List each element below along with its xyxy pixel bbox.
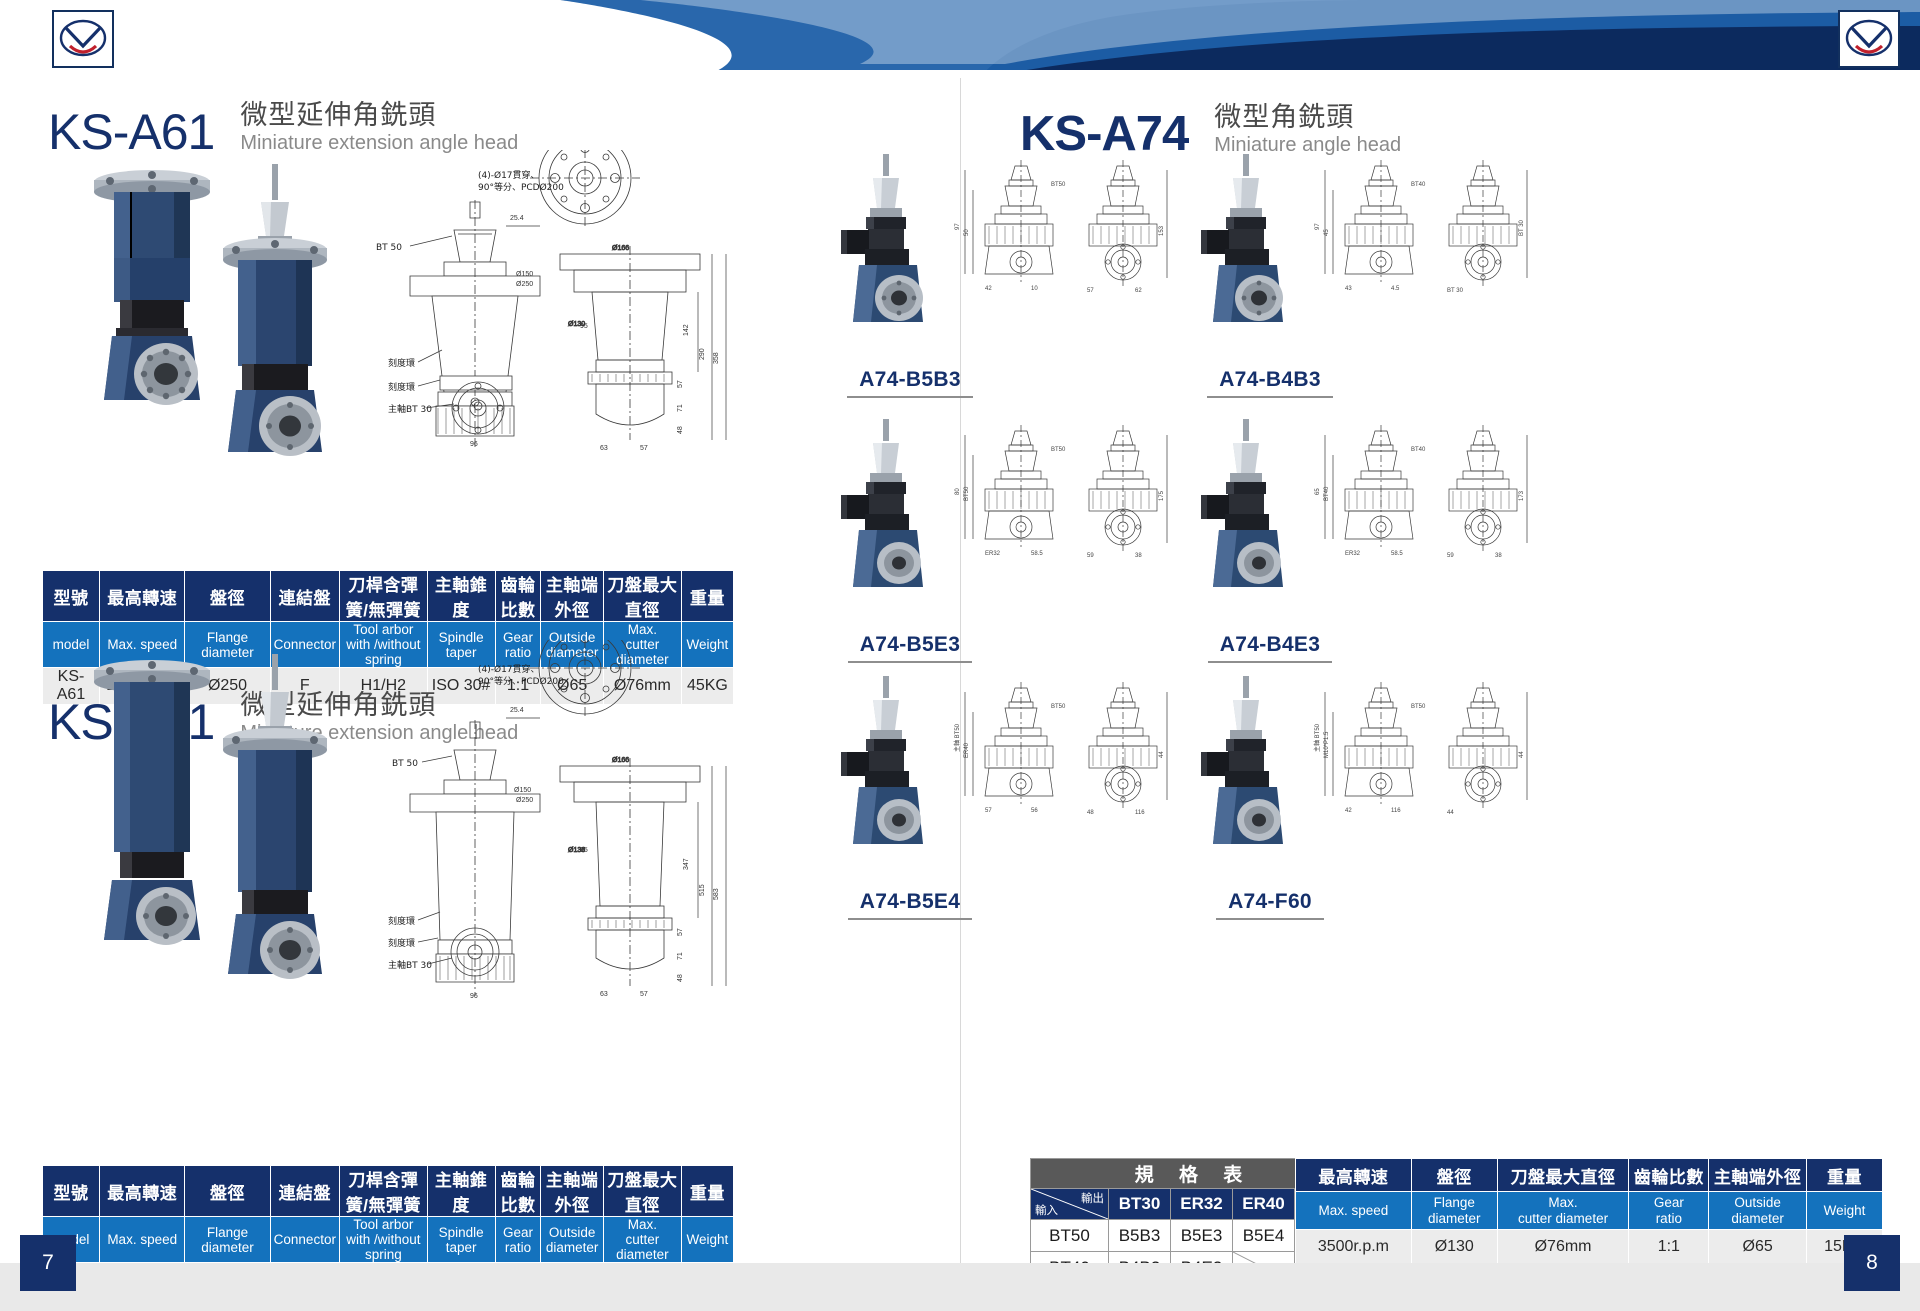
dim-note-a: 97: [955, 223, 961, 230]
variant-label-text: A74-B4B3: [1207, 368, 1333, 398]
svg-text:347: 347: [683, 858, 690, 870]
dim-note-taper: BT50: [1051, 182, 1066, 188]
variant-photo: [1201, 419, 1283, 587]
dim-note-d: 56: [1031, 808, 1038, 814]
spec-data-row: 3500r.p.mØ130Ø76mm1:1Ø6515KG: [1296, 1230, 1883, 1264]
variant-illustration-a74-b4b3: 9745434.5BT 30BT 30BT40: [1185, 150, 1535, 380]
variant-drawing-side: [1449, 160, 1527, 286]
dim-note-c: 42: [1345, 808, 1352, 814]
brand-logo-left: [52, 10, 114, 68]
spec-col-header-cn: 連結盤: [270, 571, 340, 622]
spec-col-header-en: Max.cutter diameter: [603, 1217, 681, 1263]
variant-label-a74-b5e4: A74-B5E4: [825, 890, 995, 924]
matrix-cell: B5E3: [1171, 1220, 1233, 1252]
drawing-note-bolt-1: (4)-Ø17貫穿、: [478, 169, 540, 181]
photo-a71-angled: [223, 654, 327, 979]
spec-col-header-en: Outsidediameter: [541, 1217, 603, 1263]
dim-note-f: 44: [1447, 810, 1454, 816]
dim-note-f: BT 30: [1447, 288, 1464, 294]
spec-header-row-cn: 最高轉速盤徑刀盤最大直徑齒輪比數主軸端外徑重量: [1296, 1159, 1883, 1192]
drawing-side-section-a71: [410, 720, 540, 996]
dim-note-g: 62: [1135, 288, 1142, 294]
spec-col-header-cn: 主軸端外徑: [541, 571, 603, 622]
spec-col-header-cn: 刀盤最大直徑: [1497, 1159, 1629, 1192]
spec-col-header-cn: 齒輪比數: [1629, 1159, 1709, 1192]
dim-note-b: M10*P1.5: [1324, 731, 1330, 758]
variant-illustration-a74-b5e4: 主軸 BT50ER4057564448116BT50: [825, 672, 1175, 902]
drawing-note-scale-ring-a71: 刻度環: [388, 915, 415, 927]
variant-photo: [1201, 154, 1283, 322]
spec-col-header-cn: 型號: [43, 571, 100, 622]
spec-col-header-cn: 齒輪比數: [495, 571, 541, 622]
spec-col-header-cn: 刀桿含彈簧/無彈簧: [340, 571, 428, 622]
svg-text:Ø166: Ø166: [612, 245, 629, 252]
dim-note-f: 59: [1087, 553, 1094, 559]
variant-drawing-front: [1325, 160, 1413, 282]
variant-photo: [841, 419, 923, 587]
spec-col-header-cn: 重量: [681, 571, 733, 622]
spec-col-header-en: Spindle taper: [427, 1217, 495, 1263]
variant-illustration-a74-b5b3: 975042101535762BT50: [825, 150, 1175, 380]
dim-note-a: 主軸 BT50: [953, 723, 961, 752]
svg-text:25.4: 25.4: [510, 707, 524, 714]
dim-note-g: 38: [1495, 553, 1502, 559]
svg-text:96: 96: [470, 993, 478, 1000]
variant-drawing-side: [1089, 160, 1167, 286]
drawing-note-spindle-bt30-a71: 主軸BT 30: [388, 959, 432, 971]
product-name-block: 微型延伸角銑頭 Miniature extension angle head: [240, 100, 518, 157]
variant-drawing-side: [1089, 682, 1167, 808]
variant-drawing-front: [1325, 682, 1413, 804]
svg-text:25.4: 25.4: [510, 215, 524, 222]
spec-header-row-cn: 型號最高轉速盤徑連結盤刀桿含彈簧/無彈簧主軸錐度齒輪比數主軸端外徑刀盤最大直徑重…: [43, 571, 734, 622]
variant-label-text: A74-B5E3: [848, 633, 972, 663]
svg-text:Ø250: Ø250: [516, 281, 533, 288]
product-name-cn: 微型延伸角銑頭: [240, 100, 518, 131]
spec-cell: Ø65: [1709, 1230, 1807, 1264]
dim-note-g: 116: [1135, 810, 1145, 816]
spec-col-header-en: Max.cutter diameter: [1497, 1192, 1629, 1230]
dim-note-d: 116: [1391, 808, 1401, 814]
dim-note-b: ER40: [964, 742, 970, 758]
svg-text:71: 71: [677, 404, 684, 412]
variant-drawing-front: [1325, 425, 1413, 547]
spec-col-header-cn: 重量: [681, 1166, 733, 1217]
dim-note-c: 43: [1345, 286, 1352, 292]
product-illustration-ks-a61: (4)-Ø17貫穿、 90°等分、PCDØ200 25.4: [40, 150, 740, 550]
spec-header-row-cn: 型號最高轉速盤徑連結盤刀桿含彈簧/無彈簧主軸錐度齒輪比數主軸端外徑刀盤最大直徑重…: [43, 1166, 734, 1217]
matrix-col-header: BT30: [1109, 1189, 1171, 1220]
variant-label-text: A74-B5E4: [848, 890, 972, 920]
svg-text:63: 63: [600, 445, 608, 452]
dim-note-b: BT40: [1324, 486, 1330, 501]
spec-header-row-en: Max. speedFlangediameterMax.cutter diame…: [1296, 1192, 1883, 1230]
drawing-note-bolt-2: 90°等分、PCDØ200: [478, 181, 564, 193]
svg-text:Ø250: Ø250: [516, 797, 533, 804]
spec-col-header-cn: 主軸錐度: [427, 571, 495, 622]
drawing-note-bt50-a71: BT 50: [392, 759, 418, 769]
svg-text:290: 290: [699, 348, 706, 360]
svg-text:Ø166: Ø166: [612, 757, 629, 764]
dim-note-d: 58.5: [1391, 551, 1403, 557]
variant-illustration-a74-b5e3: 80BT50ER3258.51755938BT50: [825, 415, 1175, 645]
spec-col-header-cn: 主軸錐度: [427, 1166, 495, 1217]
product-name-cn: 微型角銑頭: [1214, 102, 1401, 133]
variant-drawing-side: [1089, 425, 1167, 551]
drawing-note-bolt-1-a71: (4)-Ø17貫穿、: [478, 663, 540, 675]
dim-note-e: BT 30: [1519, 219, 1525, 236]
variant-drawing-front: [965, 160, 1053, 282]
spec-col-header-en: Connector: [270, 1217, 340, 1263]
footer-bar: [0, 1263, 1920, 1311]
spec-col-header-cn: 盤徑: [185, 571, 270, 622]
spec-col-header-cn: 盤徑: [185, 1166, 270, 1217]
dim-note-d: 4.5: [1391, 286, 1400, 292]
variant-illustration-a74-f60: 主軸 BT50M10*P1.5421164444BT50: [1185, 672, 1535, 902]
dim-note-taper: BT40: [1411, 182, 1426, 188]
section-heading-ks-a61: KS-A61 微型延伸角銑頭 Miniature extension angle…: [48, 100, 518, 157]
photo-a61-angled: [223, 164, 327, 456]
matrix-corner-input: 輸入: [1035, 1202, 1058, 1218]
spec-cell: Ø130: [1411, 1230, 1497, 1264]
variant-drawing-front: [965, 425, 1053, 547]
svg-text:95: 95: [580, 323, 588, 330]
spec-col-header-en: Flange diameter: [185, 1217, 270, 1263]
variant-label-text: A74-B4E3: [1208, 633, 1332, 663]
dim-note-c: ER32: [985, 551, 1001, 557]
spec-col-header-cn: 最高轉速: [99, 1166, 185, 1217]
variant-photo: [841, 154, 923, 322]
drawing-note-bolt-2-a71: 90°等分、PCDØ200: [478, 675, 564, 687]
spec-col-header-en: Max. speed: [99, 1217, 185, 1263]
spec-col-header-cn: 主軸端外徑: [1709, 1159, 1807, 1192]
brand-logo-right: [1838, 10, 1900, 68]
svg-text:358: 358: [713, 352, 720, 364]
variant-photo: [1201, 676, 1283, 844]
svg-text:57: 57: [640, 991, 648, 998]
spec-col-header-en: Tool arborwith /without spring: [340, 1217, 428, 1263]
spec-col-header-cn: 刀盤最大直徑: [603, 1166, 681, 1217]
spec-col-header-cn: 型號: [43, 1166, 100, 1217]
svg-text:71: 71: [677, 952, 684, 960]
spec-col-header-cn: 重量: [1807, 1159, 1883, 1192]
spec-col-header-cn: 主軸端外徑: [541, 1166, 603, 1217]
matrix-corner-output: 輸出: [1081, 1190, 1104, 1206]
drawing-note-bt50: BT 50: [376, 243, 402, 253]
svg-text:Ø150: Ø150: [516, 271, 533, 278]
svg-text:95: 95: [580, 847, 588, 854]
spec-col-header-en: Max. speed: [1296, 1192, 1412, 1230]
spec-col-header-en: Weight: [1807, 1192, 1883, 1230]
spec-col-header-cn: 最高轉速: [99, 571, 185, 622]
dim-note-b: 45: [1324, 229, 1330, 236]
dim-note-b: 50: [964, 229, 970, 236]
svg-text:63: 63: [600, 991, 608, 998]
spec-cell: 1:1: [1629, 1230, 1709, 1264]
matrix-row-header: BT50: [1031, 1220, 1109, 1252]
dim-note-a: 65: [1315, 488, 1321, 495]
svg-text:57: 57: [677, 928, 684, 936]
spec-col-header-cn: 刀桿含彈簧/無彈簧: [340, 1166, 428, 1217]
matrix-cell: B5E4: [1233, 1220, 1295, 1252]
svg-text:57: 57: [677, 380, 684, 388]
spec-col-header-en: Outsidediameter: [1709, 1192, 1807, 1230]
dim-note-d: 10: [1031, 286, 1038, 292]
dim-note-a: 80: [955, 488, 961, 495]
matrix-corner-cell: 輸出輸入: [1031, 1189, 1109, 1220]
matrix-cell: B5B3: [1109, 1220, 1171, 1252]
spec-col-header-cn: 連結盤: [270, 1166, 340, 1217]
svg-text:Ø150: Ø150: [514, 787, 531, 794]
dim-note-c: ER32: [1345, 551, 1361, 557]
variant-drawing-front: [965, 682, 1053, 804]
spec-col-header-cn: 最高轉速: [1296, 1159, 1412, 1192]
dim-note-taper: BT50: [1051, 704, 1066, 710]
variant-label-a74-b5e3: A74-B5E3: [825, 633, 995, 667]
spec-col-header-en: Gearratio: [1629, 1192, 1709, 1230]
dim-note-f: 59: [1447, 553, 1454, 559]
spec-cell: Ø76mm: [1497, 1230, 1629, 1264]
top-banner: [0, 0, 1920, 78]
variant-label-a74-b4b3: A74-B4B3: [1185, 368, 1355, 402]
drawing-note-scale-ring-2-a71: 刻度環: [388, 937, 415, 949]
spec-col-header-cn: 齒輪比數: [495, 1166, 541, 1217]
dim-note-c: 42: [985, 286, 992, 292]
matrix-col-header: ER32: [1171, 1189, 1233, 1220]
spec-col-header-en: Weight: [681, 1217, 733, 1263]
dim-note-e: 175: [1159, 490, 1165, 501]
dim-note-b: BT50: [964, 486, 970, 501]
dimension-stack-right-a71: [698, 766, 726, 986]
page-number-left: 7: [20, 1235, 76, 1291]
photo-a71-front: [94, 660, 210, 945]
dimension-stack-right: [698, 254, 726, 440]
dim-note-e: 173: [1519, 490, 1525, 501]
variant-drawing-side: [1449, 425, 1527, 551]
catalog-spread: KS-A61 微型延伸角銑頭 Miniature extension angle…: [0, 0, 1920, 1311]
photo-a61-front: [94, 170, 210, 405]
svg-text:48: 48: [677, 426, 684, 434]
variant-label-a74-f60: A74-F60: [1185, 890, 1355, 924]
drawing-right-elevation-a71: Ø166 Ø136: [560, 757, 700, 986]
product-illustration-ks-a71: (4)-Ø17貫穿、 90°等分、PCDØ200 25.4: [40, 640, 740, 1090]
variant-label-a74-b4e3: A74-B4E3: [1185, 633, 1355, 667]
spec-col-header-cn: 刀盤最大直徑: [603, 571, 681, 622]
dim-note-e: 44: [1159, 751, 1165, 758]
dim-note-taper: BT50: [1051, 447, 1066, 453]
svg-text:57: 57: [640, 445, 648, 452]
variant-illustration-a74-b4e3: 65BT40ER3258.51735938BT40: [1185, 415, 1535, 645]
svg-text:142: 142: [683, 324, 690, 336]
dim-note-a: 97: [1315, 223, 1321, 230]
drawing-note-scale-ring-2: 刻度環: [388, 381, 415, 393]
svg-text:48: 48: [677, 974, 684, 982]
svg-text:515: 515: [699, 884, 706, 896]
dim-note-f: 57: [1087, 288, 1094, 294]
page-number-right: 8: [1844, 1235, 1900, 1291]
variant-photo: [841, 676, 923, 844]
variant-label-text: A74-F60: [1216, 890, 1324, 920]
svg-text:583: 583: [713, 888, 720, 900]
dim-note-c: 57: [985, 808, 992, 814]
dim-note-a: 主軸 BT50: [1313, 723, 1321, 752]
variant-label-text: A74-B5B3: [847, 368, 973, 398]
variant-drawing-side: [1449, 682, 1527, 808]
svg-text:96: 96: [470, 441, 478, 448]
spec-col-header-en: Gearratio: [495, 1217, 541, 1263]
matrix-col-header: ER40: [1233, 1189, 1295, 1220]
spec-header-row-en: modelMax. speedFlange diameterConnectorT…: [43, 1217, 734, 1263]
spec-cell: 3500r.p.m: [1296, 1230, 1412, 1264]
dim-note-taper: BT50: [1411, 704, 1426, 710]
dim-note-d: 58.5: [1031, 551, 1043, 557]
dim-note-f: 48: [1087, 810, 1094, 816]
dim-note-g: 38: [1135, 553, 1142, 559]
dim-note-e: 44: [1519, 751, 1525, 758]
variant-label-a74-b5b3: A74-B5B3: [825, 368, 995, 402]
spec-table-body: 最高轉速盤徑刀盤最大直徑齒輪比數主軸端外徑重量Max. speedFlanged…: [1296, 1159, 1883, 1264]
dim-note-taper: BT40: [1411, 447, 1426, 453]
drawing-note-scale-ring: 刻度環: [388, 357, 415, 369]
spec-table-ks-a74: 最高轉速盤徑刀盤最大直徑齒輪比數主軸端外徑重量Max. speedFlanged…: [1295, 1158, 1883, 1264]
dim-note-e: 153: [1159, 225, 1165, 236]
spec-col-header-en: Flangediameter: [1411, 1192, 1497, 1230]
drawing-note-spindle-bt30: 主軸BT 30: [388, 403, 432, 415]
spec-col-header-cn: 盤徑: [1411, 1159, 1497, 1192]
